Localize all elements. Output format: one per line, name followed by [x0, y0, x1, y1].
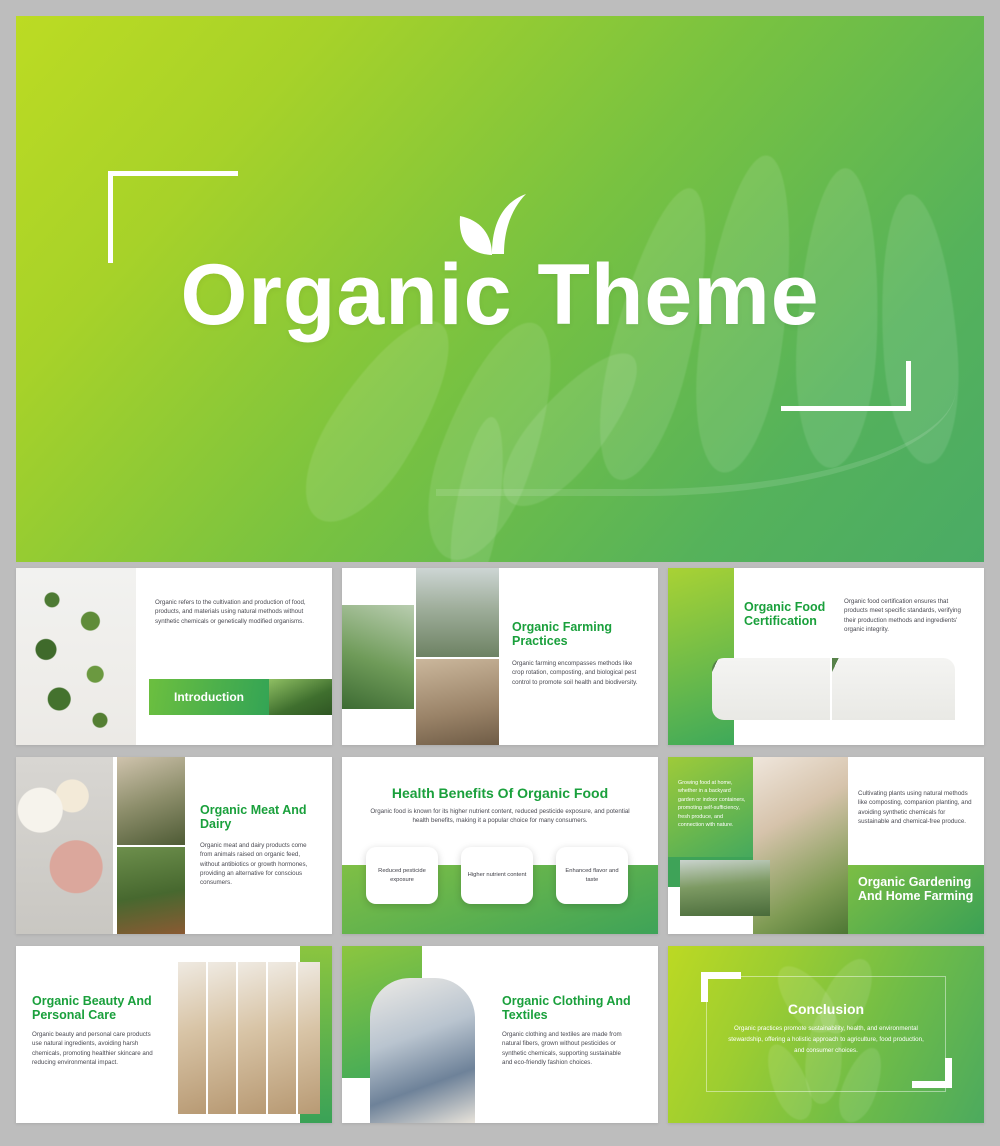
- slide-photo-spa-strip: [298, 962, 320, 1114]
- slide-photo-field: [680, 860, 770, 916]
- slide-body: Organic practices promote sustainability…: [723, 1024, 929, 1057]
- slide-organic-meat-and-dairy[interactable]: Organic Meat And Dairy Organic meat and …: [16, 757, 332, 934]
- slide-photo-spa-strip: [238, 962, 266, 1114]
- hero-slide[interactable]: Organic Theme: [16, 16, 984, 562]
- slide-body: Organic refers to the cultivation and pr…: [155, 598, 310, 626]
- slide-photo-spa-strip: [268, 962, 296, 1114]
- slide-title: Conclusion: [716, 1001, 936, 1017]
- slide-grid: Organic refers to the cultivation and pr…: [16, 568, 984, 1123]
- slide-photo-parsley-left: [712, 658, 830, 720]
- introduction-pill[interactable]: Introduction: [149, 679, 269, 715]
- slide-title: Organic Clothing And Textiles: [502, 994, 642, 1023]
- slide-photo-monstera: [269, 679, 332, 715]
- slide-photo-hens: [117, 847, 185, 934]
- slide-photo-eucalyptus: [16, 568, 136, 745]
- slide-photo-workbench: [416, 659, 499, 745]
- slide-title: Health Benefits Of Organic Food: [354, 785, 646, 801]
- slide-title: Organic Gardening And Home Farming: [858, 875, 978, 904]
- slide-body: Organic clothing and textiles are made f…: [502, 1030, 622, 1067]
- slide-organic-beauty-and-personal-care[interactable]: Organic Beauty And Personal Care Organic…: [16, 946, 332, 1123]
- presentation-preview-page: Organic Theme Organic refers to the cult…: [0, 0, 1000, 1146]
- benefit-card[interactable]: Enhanced flavor and taste: [556, 847, 628, 904]
- slide-body: Organic farming encompasses methods like…: [512, 659, 644, 687]
- slide-title: Organic Meat And Dairy: [200, 803, 320, 832]
- conclusion-bracket-bottom-right: [912, 1058, 952, 1088]
- slide-introduction[interactable]: Organic refers to the cultivation and pr…: [16, 568, 332, 745]
- slide-photo-dairy: [16, 757, 113, 934]
- slide-photo-spa-strip: [178, 962, 206, 1114]
- slide-body: Organic food certification ensures that …: [844, 597, 969, 634]
- hero-corner-bracket-bottom-right: [781, 361, 911, 411]
- slide-side-note: Growing food at home, whether in a backy…: [678, 779, 746, 829]
- hero-title: Organic Theme: [16, 252, 984, 338]
- slide-photo-tote-bags: [370, 978, 475, 1123]
- slide-organic-clothing-and-textiles[interactable]: Organic Clothing And Textiles Organic cl…: [342, 946, 658, 1123]
- slide-photo-gardeners: [342, 605, 414, 709]
- slide-conclusion[interactable]: Conclusion Organic practices promote sus…: [668, 946, 984, 1123]
- slide-organic-food-certification[interactable]: Organic Food Certification Organic food …: [668, 568, 984, 745]
- slide-title: Organic Beauty And Personal Care: [32, 994, 182, 1023]
- benefit-card[interactable]: Higher nutrient content: [461, 847, 533, 904]
- slide-organic-farming-practices[interactable]: Organic Farming Practices Organic farmin…: [342, 568, 658, 745]
- slide-photo-goat: [117, 757, 185, 845]
- slide-body: Organic beauty and personal care product…: [32, 1030, 162, 1067]
- slide-body: Organic meat and dairy products come fro…: [200, 841, 320, 887]
- slide-body: Cultivating plants using natural methods…: [858, 789, 974, 826]
- slide-health-benefits-of-organic-food[interactable]: Health Benefits Of Organic Food Organic …: [342, 757, 658, 934]
- slide-photo-spa-strip: [208, 962, 236, 1114]
- slide-photo-parsley-right: [832, 658, 955, 720]
- benefit-card[interactable]: Reduced pesticide exposure: [366, 847, 438, 904]
- slide-title: Organic Farming Practices: [512, 620, 642, 649]
- conclusion-bracket-top-left: [701, 972, 741, 1002]
- slide-organic-gardening-and-home-farming[interactable]: Growing food at home, whether in a backy…: [668, 757, 984, 934]
- slide-photo-greenhouse: [416, 568, 499, 657]
- slide-body: Organic food is known for its higher nut…: [364, 807, 636, 826]
